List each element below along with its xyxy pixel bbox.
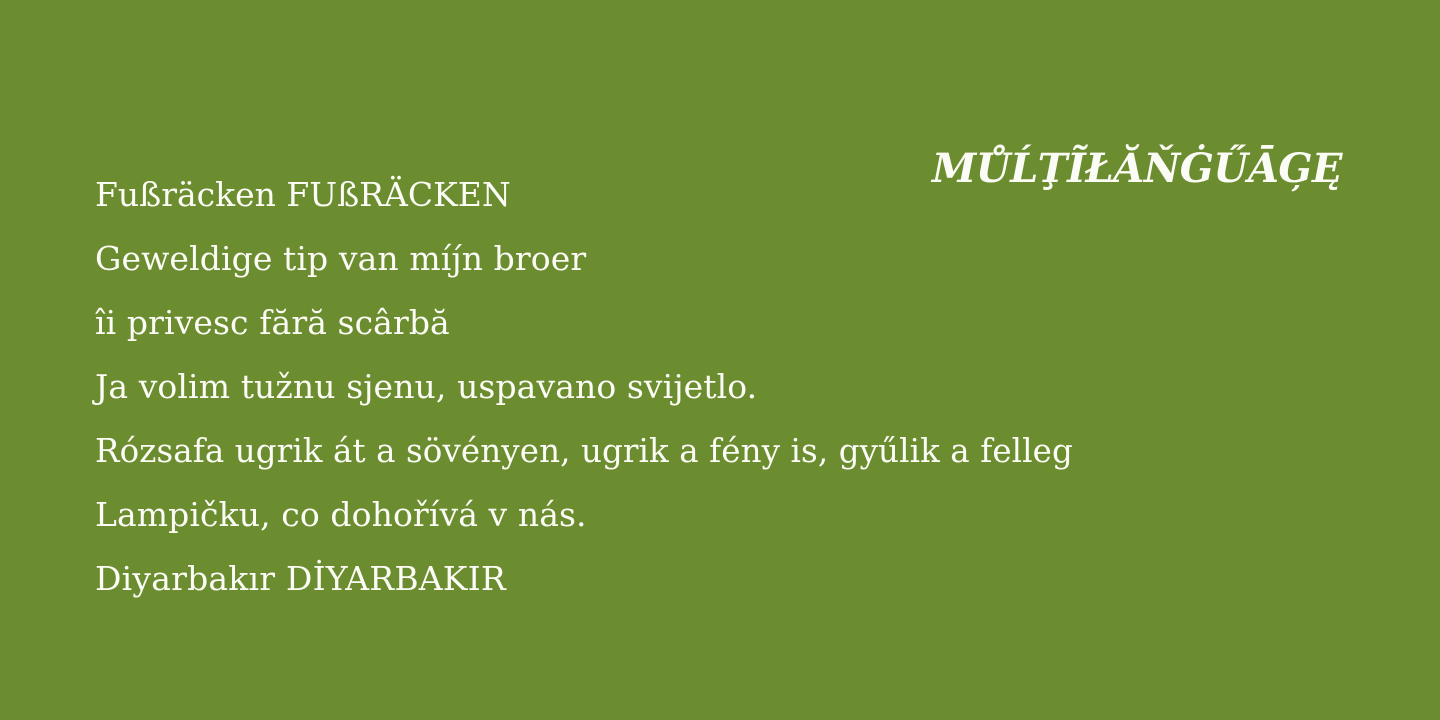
sample-line: Ja volim tužnu sjenu, uspavano svijetlo. (95, 355, 1385, 419)
sample-line: Geweldige tip van míj́n broer (95, 227, 1385, 291)
sample-line: îi privesc fără scârbă (95, 291, 1385, 355)
sample-line: Diyarbakır DİYARBAKIR (95, 547, 1385, 611)
sample-text-block: Fußräcken FUßRÄCKEN Geweldige tip van mí… (95, 163, 1385, 611)
sample-line: Fußräcken FUßRÄCKEN (95, 163, 1385, 227)
font-specimen-canvas: MŮĹŢĨŁĂŇĠŰĀĢĘ Fußräcken FUßRÄCKEN Geweld… (0, 0, 1440, 720)
sample-line: Lampičku, co dohořívá v nás. (95, 483, 1385, 547)
sample-line: Rózsafa ugrik át a sövényen, ugrik a fén… (95, 419, 1385, 483)
